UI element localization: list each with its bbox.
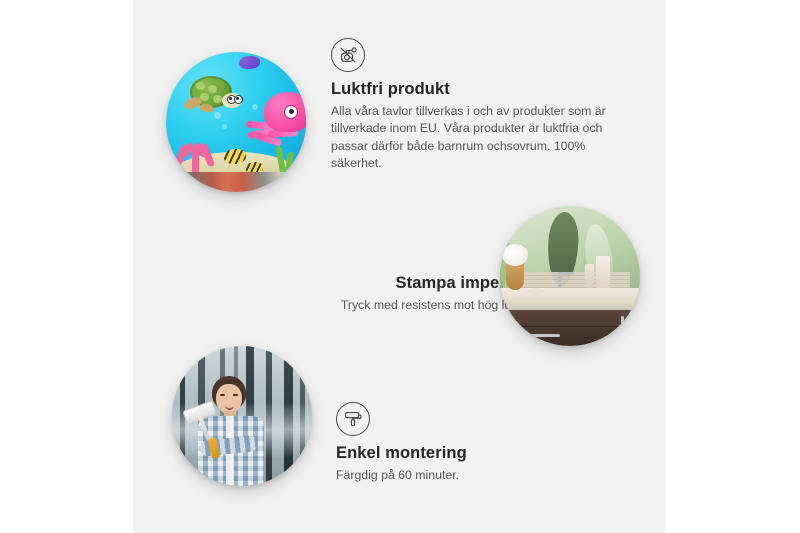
fish-icon xyxy=(224,149,246,164)
feature-description: Alla våra tavlor tillverkas i och av pro… xyxy=(331,103,631,173)
product-image-bathroom-tropical-wallpaper xyxy=(500,206,640,346)
underwater-illustration xyxy=(166,52,306,192)
paint-roller-icon xyxy=(336,402,370,436)
faucet-icon xyxy=(558,272,561,288)
seaweed-icon xyxy=(276,142,298,176)
feature-odourless: Luktfri produkt Alla våra tavlor tillver… xyxy=(331,38,631,173)
bottle-icon xyxy=(585,264,594,288)
product-image-woman-with-paint-roller xyxy=(172,346,312,486)
bubble-icon xyxy=(222,124,227,129)
product-image-underwater-scene xyxy=(166,52,306,192)
vanity-cabinet xyxy=(504,310,640,346)
coral-icon xyxy=(174,136,218,176)
soap-dish xyxy=(528,288,544,294)
countertop xyxy=(500,288,640,310)
page-root: Luktfri produkt Alla våra tavlor tillver… xyxy=(0,0,800,533)
flower-icon xyxy=(502,244,528,266)
bathroom-photo xyxy=(500,206,640,346)
turtle-icon xyxy=(182,76,240,116)
bottle-icon xyxy=(596,256,610,290)
content-canvas: Luktfri produkt Alla våra tavlor tillver… xyxy=(133,0,666,533)
no-fragrance-spray-icon xyxy=(331,38,365,72)
forest-wallpaper-photo xyxy=(172,346,312,486)
feature-title: Luktfri produkt xyxy=(331,80,631,99)
fish-icon xyxy=(239,56,260,69)
person-figure xyxy=(190,376,272,486)
feature-title: Enkel montering xyxy=(336,444,636,463)
feature-easy-mounting: Enkel montering Färgdig på 60 minuter. xyxy=(336,402,636,484)
room-foreground xyxy=(166,172,306,192)
feature-description: Färgdig på 60 minuter. xyxy=(336,467,636,484)
